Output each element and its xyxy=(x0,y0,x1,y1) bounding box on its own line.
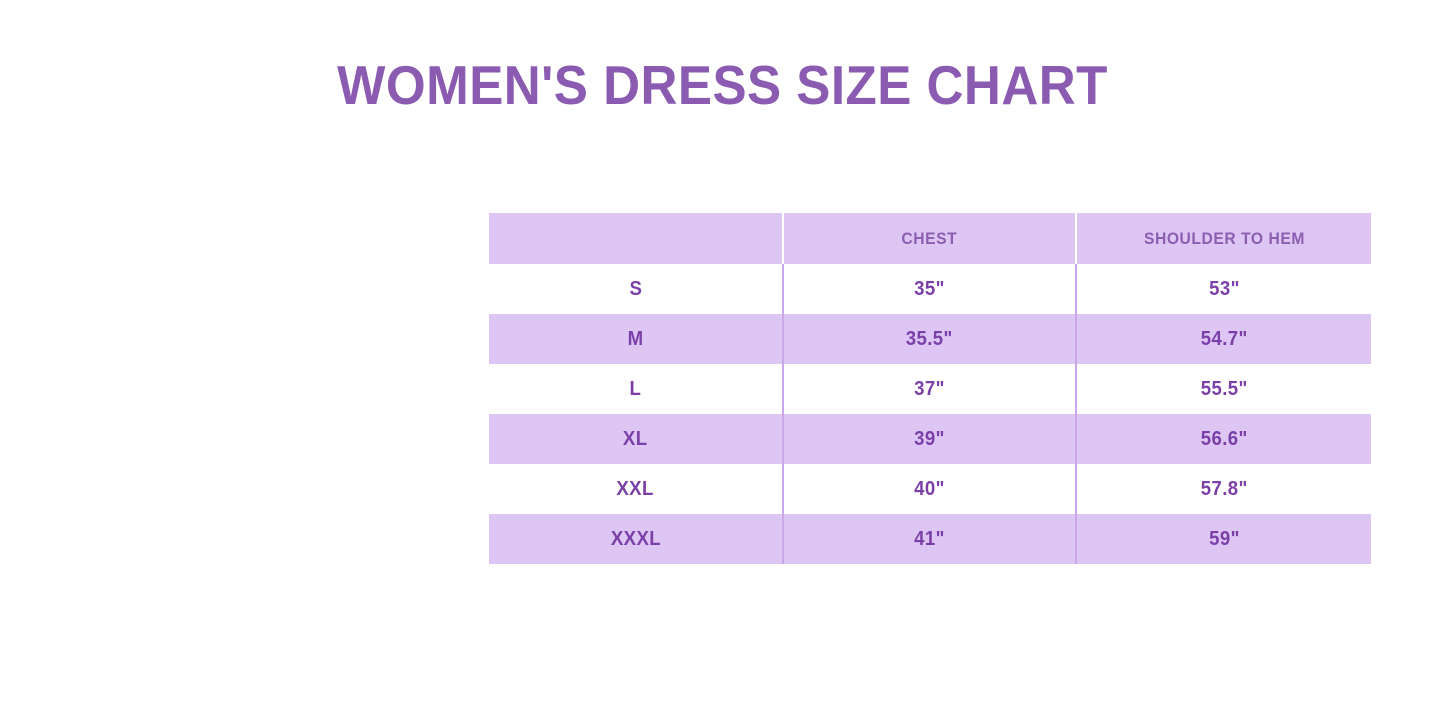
cell-chest: 37" xyxy=(783,364,1076,414)
cell-chest-value: 39" xyxy=(914,428,945,451)
cell-size-value: S xyxy=(629,278,642,301)
column-header-chest: CHEST xyxy=(783,213,1076,264)
cell-chest-value: 35" xyxy=(914,278,945,301)
column-header-size xyxy=(489,213,783,264)
cell-chest: 39" xyxy=(783,414,1076,464)
cell-chest: 35.5" xyxy=(783,314,1076,364)
table-row: XL 39" 56.6" xyxy=(489,414,1371,464)
cell-size: M xyxy=(489,314,783,364)
cell-chest: 40" xyxy=(783,464,1076,514)
page-title: WOMEN'S DRESS SIZE CHART xyxy=(51,57,1395,115)
table-row: L 37" 55.5" xyxy=(489,364,1371,414)
cell-chest-value: 35.5" xyxy=(906,328,953,351)
table-row: M 35.5" 54.7" xyxy=(489,314,1371,364)
cell-shoulder-to-hem: 53" xyxy=(1076,264,1371,314)
table-header: CHEST SHOULDER TO HEM xyxy=(489,213,1371,264)
cell-chest-value: 40" xyxy=(914,478,945,501)
cell-size: XXXL xyxy=(489,514,783,564)
cell-chest: 35" xyxy=(783,264,1076,314)
cell-shoulder-to-hem: 59" xyxy=(1076,514,1371,564)
cell-size-value: XL xyxy=(623,428,648,451)
column-header-shoulder-to-hem-label: SHOULDER TO HEM xyxy=(1144,229,1305,249)
cell-shoulder-to-hem: 57.8" xyxy=(1076,464,1371,514)
table-body: S 35" 53" M 35.5" 54.7" xyxy=(489,264,1371,564)
table-row: S 35" 53" xyxy=(489,264,1371,314)
cell-size: XXL xyxy=(489,464,783,514)
cell-shoulder-to-hem-value: 55.5" xyxy=(1201,378,1248,401)
column-header-chest-label: CHEST xyxy=(902,229,958,249)
cell-chest-value: 37" xyxy=(914,378,945,401)
cell-size: XL xyxy=(489,414,783,464)
cell-shoulder-to-hem: 54.7" xyxy=(1076,314,1371,364)
cell-shoulder-to-hem: 56.6" xyxy=(1076,414,1371,464)
table-row: XXL 40" 57.8" xyxy=(489,464,1371,514)
table-header-row: CHEST SHOULDER TO HEM xyxy=(489,213,1371,264)
cell-shoulder-to-hem-value: 53" xyxy=(1209,278,1240,301)
cell-size-value: XXL xyxy=(617,478,654,501)
cell-shoulder-to-hem-value: 56.6" xyxy=(1201,428,1248,451)
size-chart-page: WOMEN'S DRESS SIZE CHART CHEST SHOULDER … xyxy=(0,0,1445,723)
cell-shoulder-to-hem-value: 54.7" xyxy=(1201,328,1248,351)
cell-shoulder-to-hem: 55.5" xyxy=(1076,364,1371,414)
size-chart-table: CHEST SHOULDER TO HEM S 35" 53" xyxy=(489,213,1371,564)
column-header-shoulder-to-hem: SHOULDER TO HEM xyxy=(1076,213,1371,264)
cell-shoulder-to-hem-value: 57.8" xyxy=(1201,478,1248,501)
cell-chest: 41" xyxy=(783,514,1076,564)
cell-size: S xyxy=(489,264,783,314)
cell-size-value: L xyxy=(630,378,642,401)
table-row: XXXL 41" 59" xyxy=(489,514,1371,564)
cell-chest-value: 41" xyxy=(914,528,945,551)
cell-shoulder-to-hem-value: 59" xyxy=(1209,528,1240,551)
cell-size: L xyxy=(489,364,783,414)
cell-size-value: M xyxy=(628,328,644,351)
cell-size-value: XXXL xyxy=(610,528,660,551)
